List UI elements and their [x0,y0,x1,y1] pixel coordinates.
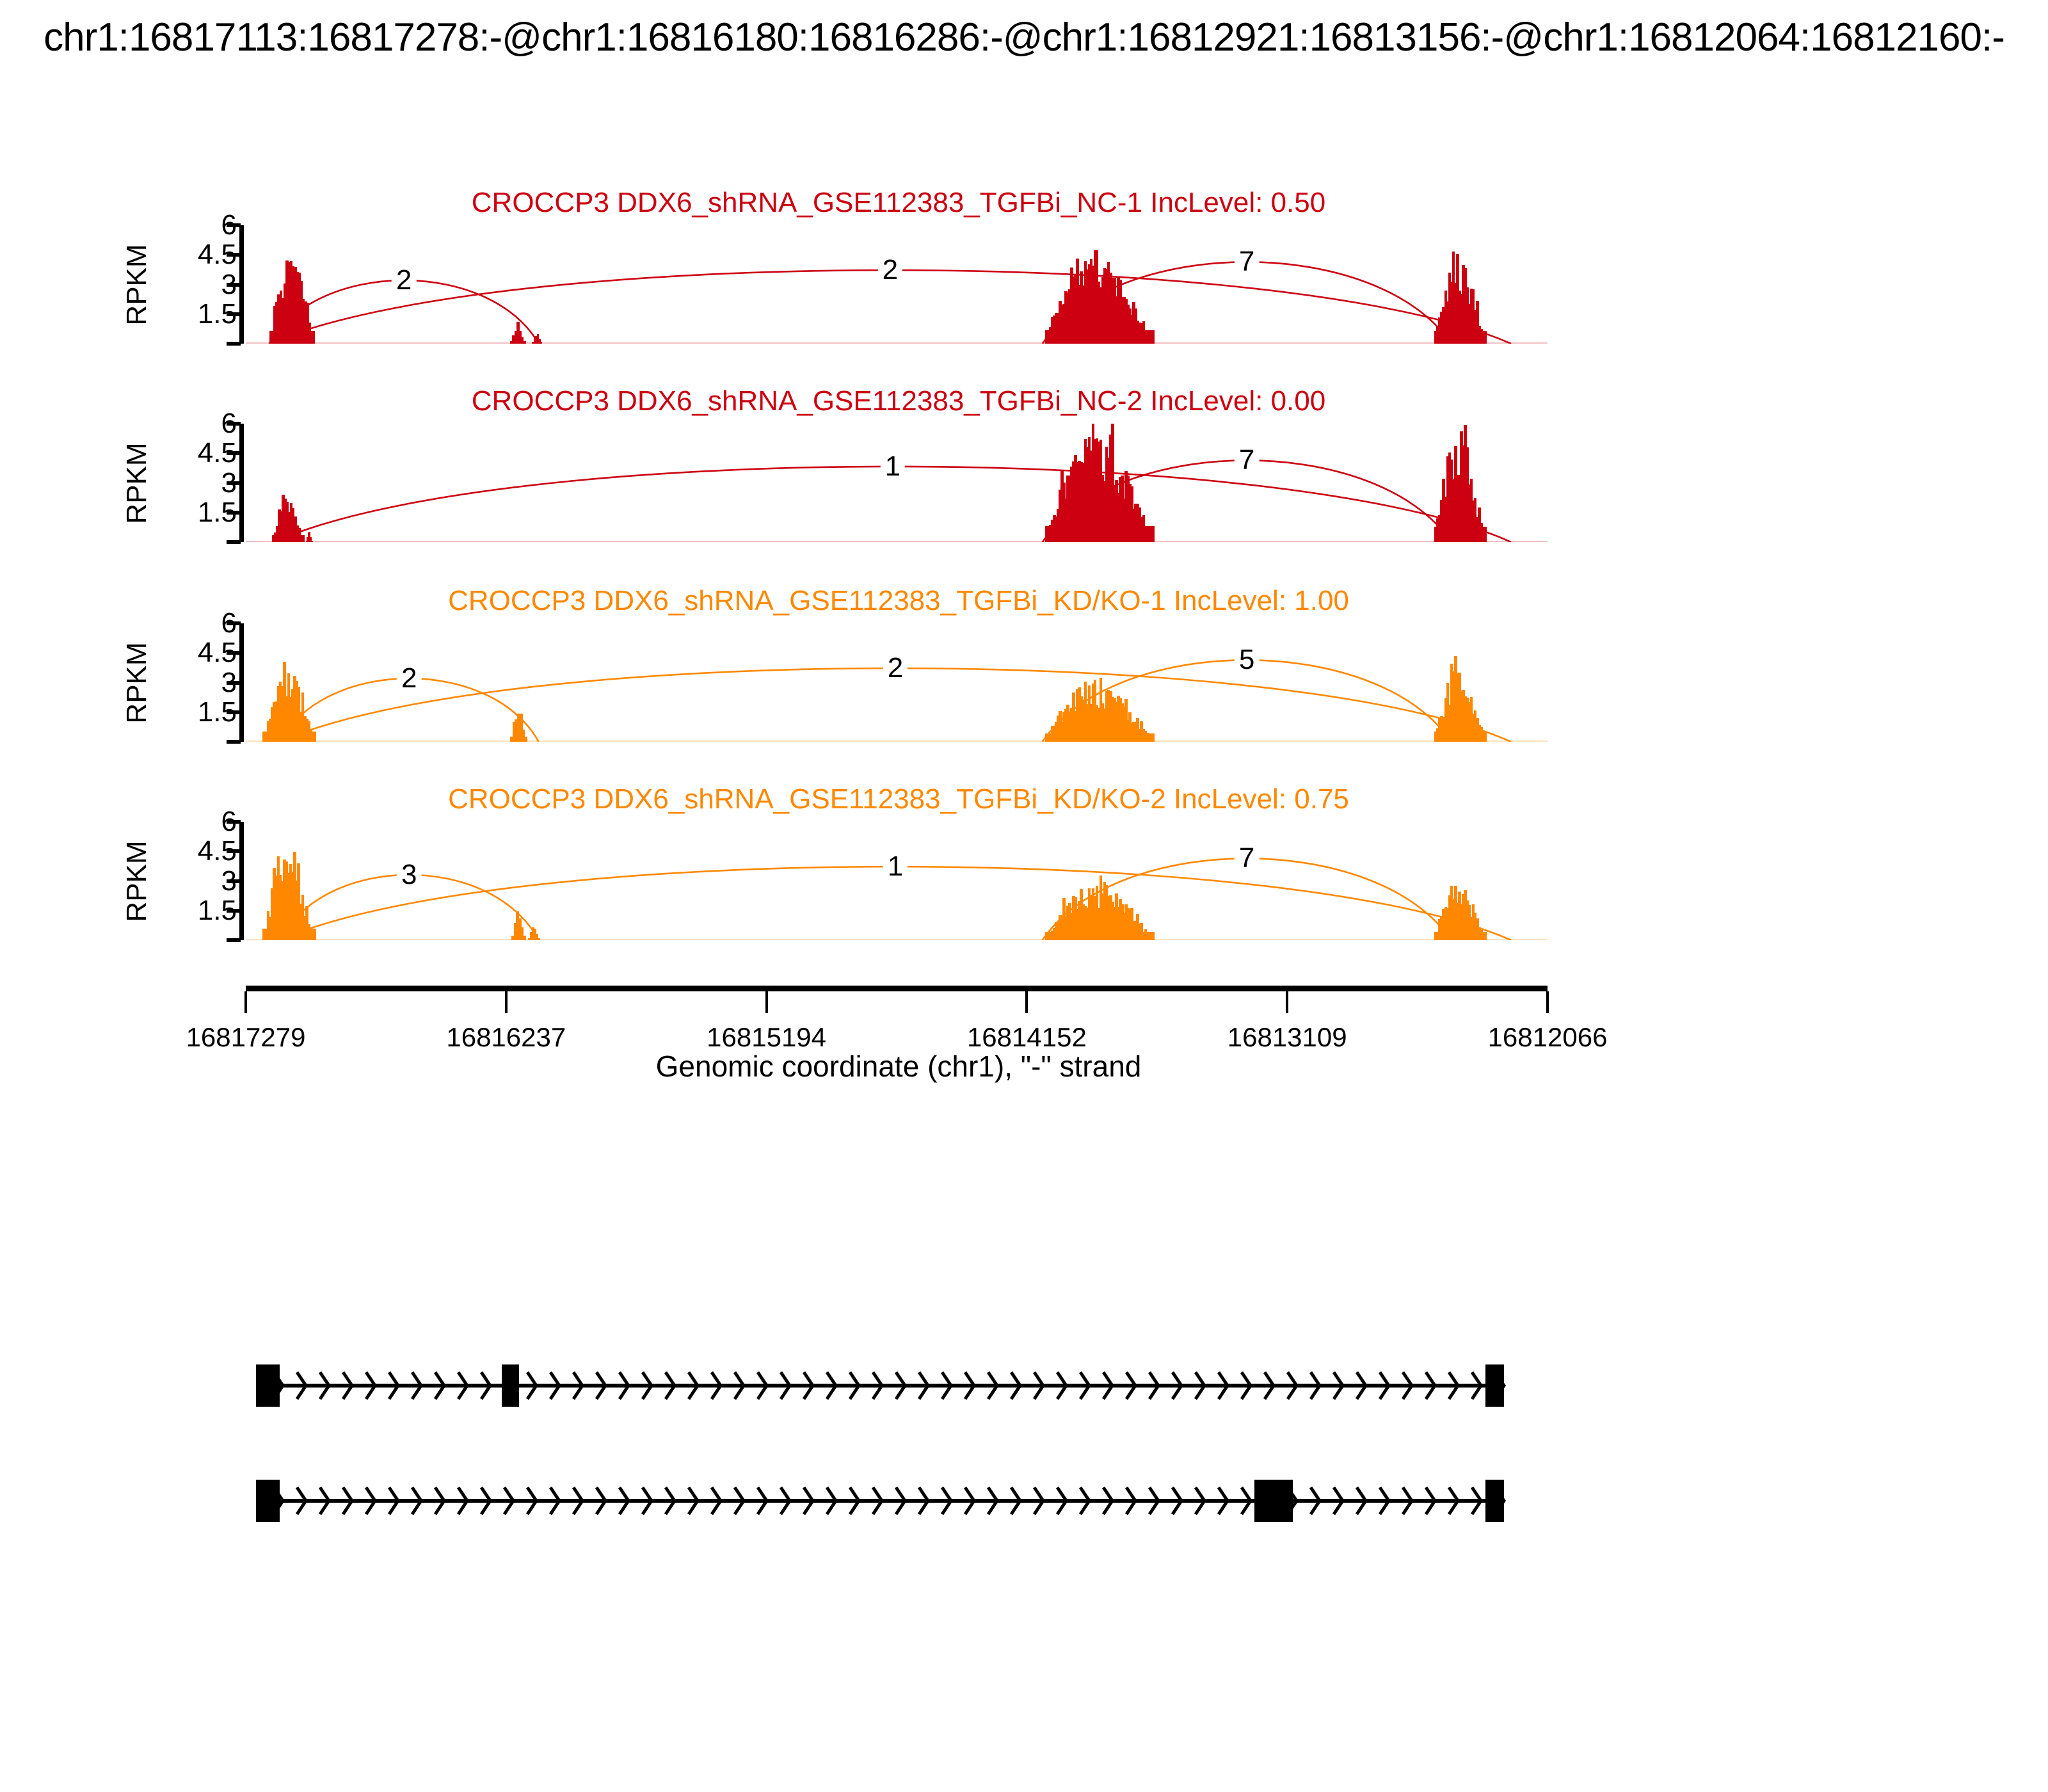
strand-arrow-icon [641,1371,657,1400]
strand-arrow-icon [480,1371,495,1400]
junction-count-label: 7 [1235,844,1259,872]
strand-arrow-icon [733,1486,749,1516]
event-title: chr1:16817113:16817278:-@chr1:16816180:1… [0,10,2048,65]
strand-arrow-icon [780,1371,795,1400]
y-tick-label: 3 [221,469,237,497]
strand-arrow-icon [964,1486,979,1516]
strand-arrow-icon [365,1371,380,1400]
strand-arrow-icon [710,1486,726,1516]
strand-arrow-icon [1471,1486,1486,1516]
junction-count-label: 3 [397,861,421,889]
exon-box [1485,1480,1504,1522]
strand-arrow-icon [1332,1371,1348,1400]
strand-arrow-icon [1402,1486,1417,1516]
y-axis-label: RPKM [121,234,153,336]
junction-count-label: 5 [1235,646,1259,674]
strand-arrow-icon [1194,1371,1210,1400]
y-tick-label: 6 [221,410,237,438]
y-tick-label: 3 [221,271,237,299]
strand-arrow-icon [872,1486,887,1516]
y-axis-label: RPKM [121,632,153,734]
y-tick-labels: 64.531.5 [154,186,237,346]
strand-arrow-icon [1240,1486,1256,1516]
y-axis-label: RPKM [121,830,153,932]
strand-arrow-icon [1102,1371,1117,1400]
panel-title-3: CROCCP3 DDX6_shRNA_GSE112383_TGFBi_KD/KO… [0,584,2048,618]
strand-arrow-icon [595,1486,611,1516]
panel-title-text: CROCCP3 DDX6_shRNA_GSE112383_TGFBi_KD/KO… [448,584,1349,618]
y-axis-label: RPKM [121,432,153,534]
x-tick-mark [1025,991,1028,1013]
strand-arrow-icon [572,1371,588,1400]
panel-title-2: CROCCP3 DDX6_shRNA_GSE112383_TGFBi_NC-2 … [0,384,2048,419]
strand-arrow-icon [1240,1371,1256,1400]
exon-box [1254,1480,1293,1522]
strand-arrow-icon [1471,1371,1486,1400]
strand-arrow-icon [1402,1371,1417,1400]
strand-arrow-icon [388,1371,403,1400]
strand-arrow-icon [849,1371,864,1400]
strand-arrow-icon [872,1371,887,1400]
strand-arrow-icon [1125,1486,1140,1516]
y-tick-label: 1.5 [198,300,237,328]
strand-arrow-icon [641,1486,657,1516]
strand-arrow-icon [526,1371,541,1400]
strand-arrow-icon [1332,1486,1348,1516]
strand-arrow-icon [1286,1371,1302,1400]
strand-arrow-icon [319,1371,334,1400]
strand-arrow-icon [687,1371,703,1400]
strand-arrow-icon [1379,1486,1394,1516]
strand-arrow-icon [1010,1486,1025,1516]
strand-arrow-icon [733,1371,749,1400]
junction-count-label: 2 [397,664,421,692]
exon-box [256,1480,280,1522]
strand-arrow-icon [411,1371,426,1400]
panel-title-text: CROCCP3 DDX6_shRNA_GSE112383_TGFBi_NC-1 … [472,186,1325,220]
strand-arrow-icon [526,1486,541,1516]
strand-arrow-icon [664,1486,680,1516]
strand-arrow-icon [918,1371,933,1400]
junction-count-label: 1 [881,452,905,481]
strand-arrow-icon [296,1371,311,1400]
strand-arrow-icon [1356,1486,1371,1516]
strand-arrow-icon [756,1371,772,1400]
exon-box [1485,1364,1504,1407]
coverage-track-4: 317 [246,822,1548,940]
y-tick-label: 6 [221,211,237,239]
y-tick-label: 3 [221,867,237,895]
strand-arrow-icon [572,1486,588,1516]
strand-arrow-icon [895,1486,910,1516]
strand-arrow-icon [319,1486,334,1516]
event-title-text: chr1:16817113:16817278:-@chr1:16816180:1… [44,10,2004,65]
strand-arrow-icon [1102,1486,1117,1516]
strand-arrow-icon [1010,1371,1025,1400]
strand-arrow-icon [987,1486,1002,1516]
x-axis-title-text: Genomic coordinate (chr1), "-" strand [656,1048,1142,1084]
transcript-isoform-inclusion [0,1357,2048,1414]
panel-title-4: CROCCP3 DDX6_shRNA_GSE112383_TGFBi_KD/KO… [0,782,2048,817]
strand-arrow-icon [1425,1371,1440,1400]
y-tick-labels: 64.531.5 [154,384,237,544]
y-tick-label: 4.5 [198,639,237,667]
strand-arrow-icon [803,1371,818,1400]
strand-arrow-icon [1309,1486,1325,1516]
strand-arrow-icon [941,1486,956,1516]
y-tick-label: 1.5 [198,897,237,925]
strand-arrow-icon [826,1486,841,1516]
exon-box [502,1364,519,1407]
strand-arrow-icon [1148,1371,1164,1400]
strand-arrow-icon [964,1371,979,1400]
strand-arrow-icon [1425,1486,1440,1516]
strand-arrow-icon [480,1486,495,1516]
strand-arrow-icon [1033,1371,1048,1400]
strand-arrow-icon [1125,1371,1140,1400]
sashimi-panel-4: CROCCP3 DDX6_shRNA_GSE112383_TGFBi_KD/KO… [0,782,2048,942]
strand-arrow-icon [1171,1486,1187,1516]
strand-arrow-icon [1194,1486,1210,1516]
strand-arrow-icon [1379,1371,1394,1400]
strand-arrow-icon [342,1486,357,1516]
strand-arrow-icon [780,1486,795,1516]
strand-arrow-icon [618,1486,634,1516]
coverage-track-2: 17 [246,424,1548,542]
strand-arrow-icon [987,1371,1002,1400]
junction-count-label: 7 [1235,248,1259,276]
junction-count-label: 2 [392,266,416,294]
exon-box [256,1364,280,1407]
strand-arrow-icon [618,1371,634,1400]
y-tick-label: 4.5 [198,439,237,467]
panel-title-text: CROCCP3 DDX6_shRNA_GSE112383_TGFBi_KD/KO… [448,782,1349,817]
junction-count-label: 2 [883,654,908,682]
x-tick-mark [505,991,508,1013]
strand-arrow-icon [549,1371,564,1400]
x-axis-line [246,986,1548,991]
y-tick-labels: 64.531.5 [154,782,237,942]
y-tick-label: 1.5 [198,499,237,527]
y-tick-label: 6 [221,609,237,637]
junction-arcs [246,424,1548,542]
strand-arrow-icon [549,1486,564,1516]
y-tick-labels: 64.531.5 [154,584,237,744]
strand-arrow-icon [296,1486,311,1516]
strand-arrow-icon [503,1486,518,1516]
strand-arrow-icon [457,1486,472,1516]
strand-arrow-icon [1056,1486,1071,1516]
strand-arrow-icon [941,1371,956,1400]
strand-arrow-icon [1309,1371,1325,1400]
strand-arrow-icon [434,1371,449,1400]
strand-arrow-icon [826,1371,841,1400]
transcript-isoform-skipping [0,1472,2048,1530]
x-tick-mark [1546,991,1549,1013]
x-tick-mark [244,991,247,1013]
strand-arrow-icon [1448,1486,1463,1516]
strand-arrow-icon [803,1486,818,1516]
strand-arrow-icon [1171,1371,1187,1400]
strand-arrow-icon [1263,1371,1279,1400]
y-tick-label: 3 [221,669,237,697]
strand-arrow-icon [918,1486,933,1516]
strand-arrow-icon [457,1371,472,1400]
junction-count-label: 1 [883,852,908,881]
junction-count-label: 7 [1235,446,1259,474]
strand-arrow-icon [756,1486,772,1516]
strand-arrow-icon [895,1371,910,1400]
strand-arrow-icon [1356,1371,1371,1400]
x-tick-mark [765,991,768,1013]
y-tick-label: 4.5 [198,837,237,865]
strand-arrow-icon [1217,1486,1233,1516]
sashimi-panel-3: CROCCP3 DDX6_shRNA_GSE112383_TGFBi_KD/KO… [0,584,2048,744]
strand-arrow-icon [710,1371,726,1400]
x-tick-mark [1286,991,1288,1013]
y-tick-label: 1.5 [198,698,237,726]
strand-arrow-icon [664,1371,680,1400]
strand-arrow-icon [687,1486,703,1516]
panel-title-1: CROCCP3 DDX6_shRNA_GSE112383_TGFBi_NC-1 … [0,186,2048,220]
strand-arrow-icon [365,1486,380,1516]
panel-title-text: CROCCP3 DDX6_shRNA_GSE112383_TGFBi_NC-2 … [472,384,1325,419]
strand-arrow-icon [1079,1486,1094,1516]
sashimi-panel-1: CROCCP3 DDX6_shRNA_GSE112383_TGFBi_NC-1 … [0,186,2048,346]
strand-arrow-icon [342,1371,357,1400]
strand-arrow-icon [849,1486,864,1516]
junction-count-label: 2 [878,256,902,284]
strand-arrow-icon [1217,1371,1233,1400]
strand-arrow-icon [1056,1371,1071,1400]
y-tick-label: 6 [221,808,237,836]
x-axis-title: Genomic coordinate (chr1), "-" strand [0,1048,2048,1084]
strand-arrow-icon [434,1486,449,1516]
coverage-track-3: 225 [246,623,1548,742]
strand-arrow-icon [595,1371,611,1400]
strand-arrow-icon [1079,1371,1094,1400]
strand-arrow-icon [1448,1371,1463,1400]
strand-arrow-icon [388,1486,403,1516]
strand-arrow-icon [1033,1486,1048,1516]
coverage-track-1: 227 [246,225,1548,344]
sashimi-panel-2: CROCCP3 DDX6_shRNA_GSE112383_TGFBi_NC-2 … [0,384,2048,544]
strand-arrow-icon [411,1486,426,1516]
y-tick-label: 4.5 [198,241,237,269]
strand-arrow-icon [1148,1486,1164,1516]
